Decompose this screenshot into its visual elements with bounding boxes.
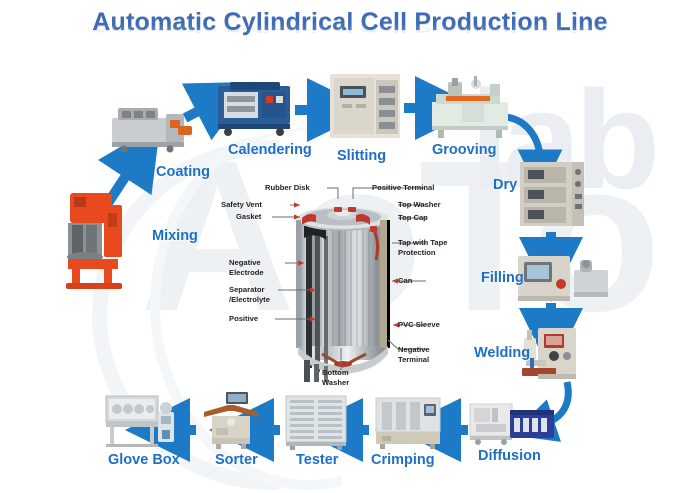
machine-slitting: [328, 72, 402, 140]
battery-label-negative-terminal: Negative: [398, 345, 430, 355]
machine-welding: [520, 322, 588, 384]
step-label-mixing[interactable]: Mixing: [152, 228, 198, 244]
step-label-diffusion[interactable]: Diffusion: [478, 448, 541, 464]
battery-label-positive: Positive: [229, 314, 258, 324]
battery-label-bottom: Bottom: [322, 368, 349, 378]
battery-label-pvc-sleeve: PVC Sleeve: [398, 320, 440, 330]
battery-label-washer: Washer: [322, 378, 349, 388]
battery-label-rubber-disk: Rubber Disk: [265, 183, 310, 193]
battery-label-positive-terminal: Positive Terminal: [372, 183, 434, 193]
machine-calendering: [216, 76, 296, 138]
step-label-calendering[interactable]: Calendering: [228, 142, 312, 158]
battery-label-separator: Separator: [229, 285, 264, 295]
machine-grooving: [428, 74, 514, 140]
machine-dry: [518, 160, 586, 232]
step-label-filling[interactable]: Filling: [481, 270, 524, 286]
battery-label-terminal: Terminal: [398, 355, 429, 365]
step-label-slitting[interactable]: Slitting: [337, 148, 386, 164]
battery-label-negative: Negative: [229, 258, 261, 268]
machine-glovebox: [104, 392, 178, 450]
step-label-sorter[interactable]: Sorter: [215, 452, 258, 468]
step-label-tester[interactable]: Tester: [296, 452, 338, 468]
machine-mixing: [60, 185, 130, 290]
machine-crimping: [372, 396, 446, 450]
machine-tester: [284, 394, 348, 450]
battery-label-electrolyte: /Electrolyte: [229, 295, 270, 305]
page-title-block: Automatic Cylindrical Cell Production Li…: [0, 8, 700, 64]
battery-label-can: Can: [398, 276, 412, 286]
machine-coating: [108, 100, 196, 155]
machine-sorter: [200, 392, 262, 450]
step-label-grooving[interactable]: Grooving: [432, 142, 496, 158]
battery-label-gasket: Gasket: [236, 212, 261, 222]
battery-label-tap-protection: Protection: [398, 248, 436, 258]
machine-filling: [516, 252, 612, 304]
battery-label-top-cap: Top Cap: [398, 213, 428, 223]
battery-label-safety-vent: Safety Vent: [221, 200, 262, 210]
step-label-welding[interactable]: Welding: [474, 345, 530, 361]
battery-cutaway-illustration: [282, 196, 404, 382]
step-label-dry[interactable]: Dry: [493, 177, 517, 193]
machine-diffusion: [468, 398, 558, 446]
battery-label-electrode: Electrode: [229, 268, 264, 278]
step-label-coating[interactable]: Coating: [156, 164, 210, 180]
battery-label-top-washer: Top Washer: [398, 200, 441, 210]
battery-label-tap-with-tape: Tap with Tape: [398, 238, 448, 248]
step-label-glovebox[interactable]: Glove Box: [108, 452, 180, 468]
step-label-crimping[interactable]: Crimping: [371, 452, 435, 468]
page-title-reflection: Automatic Cylindrical Cell Production Li…: [0, 19, 700, 35]
production-line-infographic: AoTo lab Automatic Cylindrical Cell Prod…: [0, 0, 700, 493]
